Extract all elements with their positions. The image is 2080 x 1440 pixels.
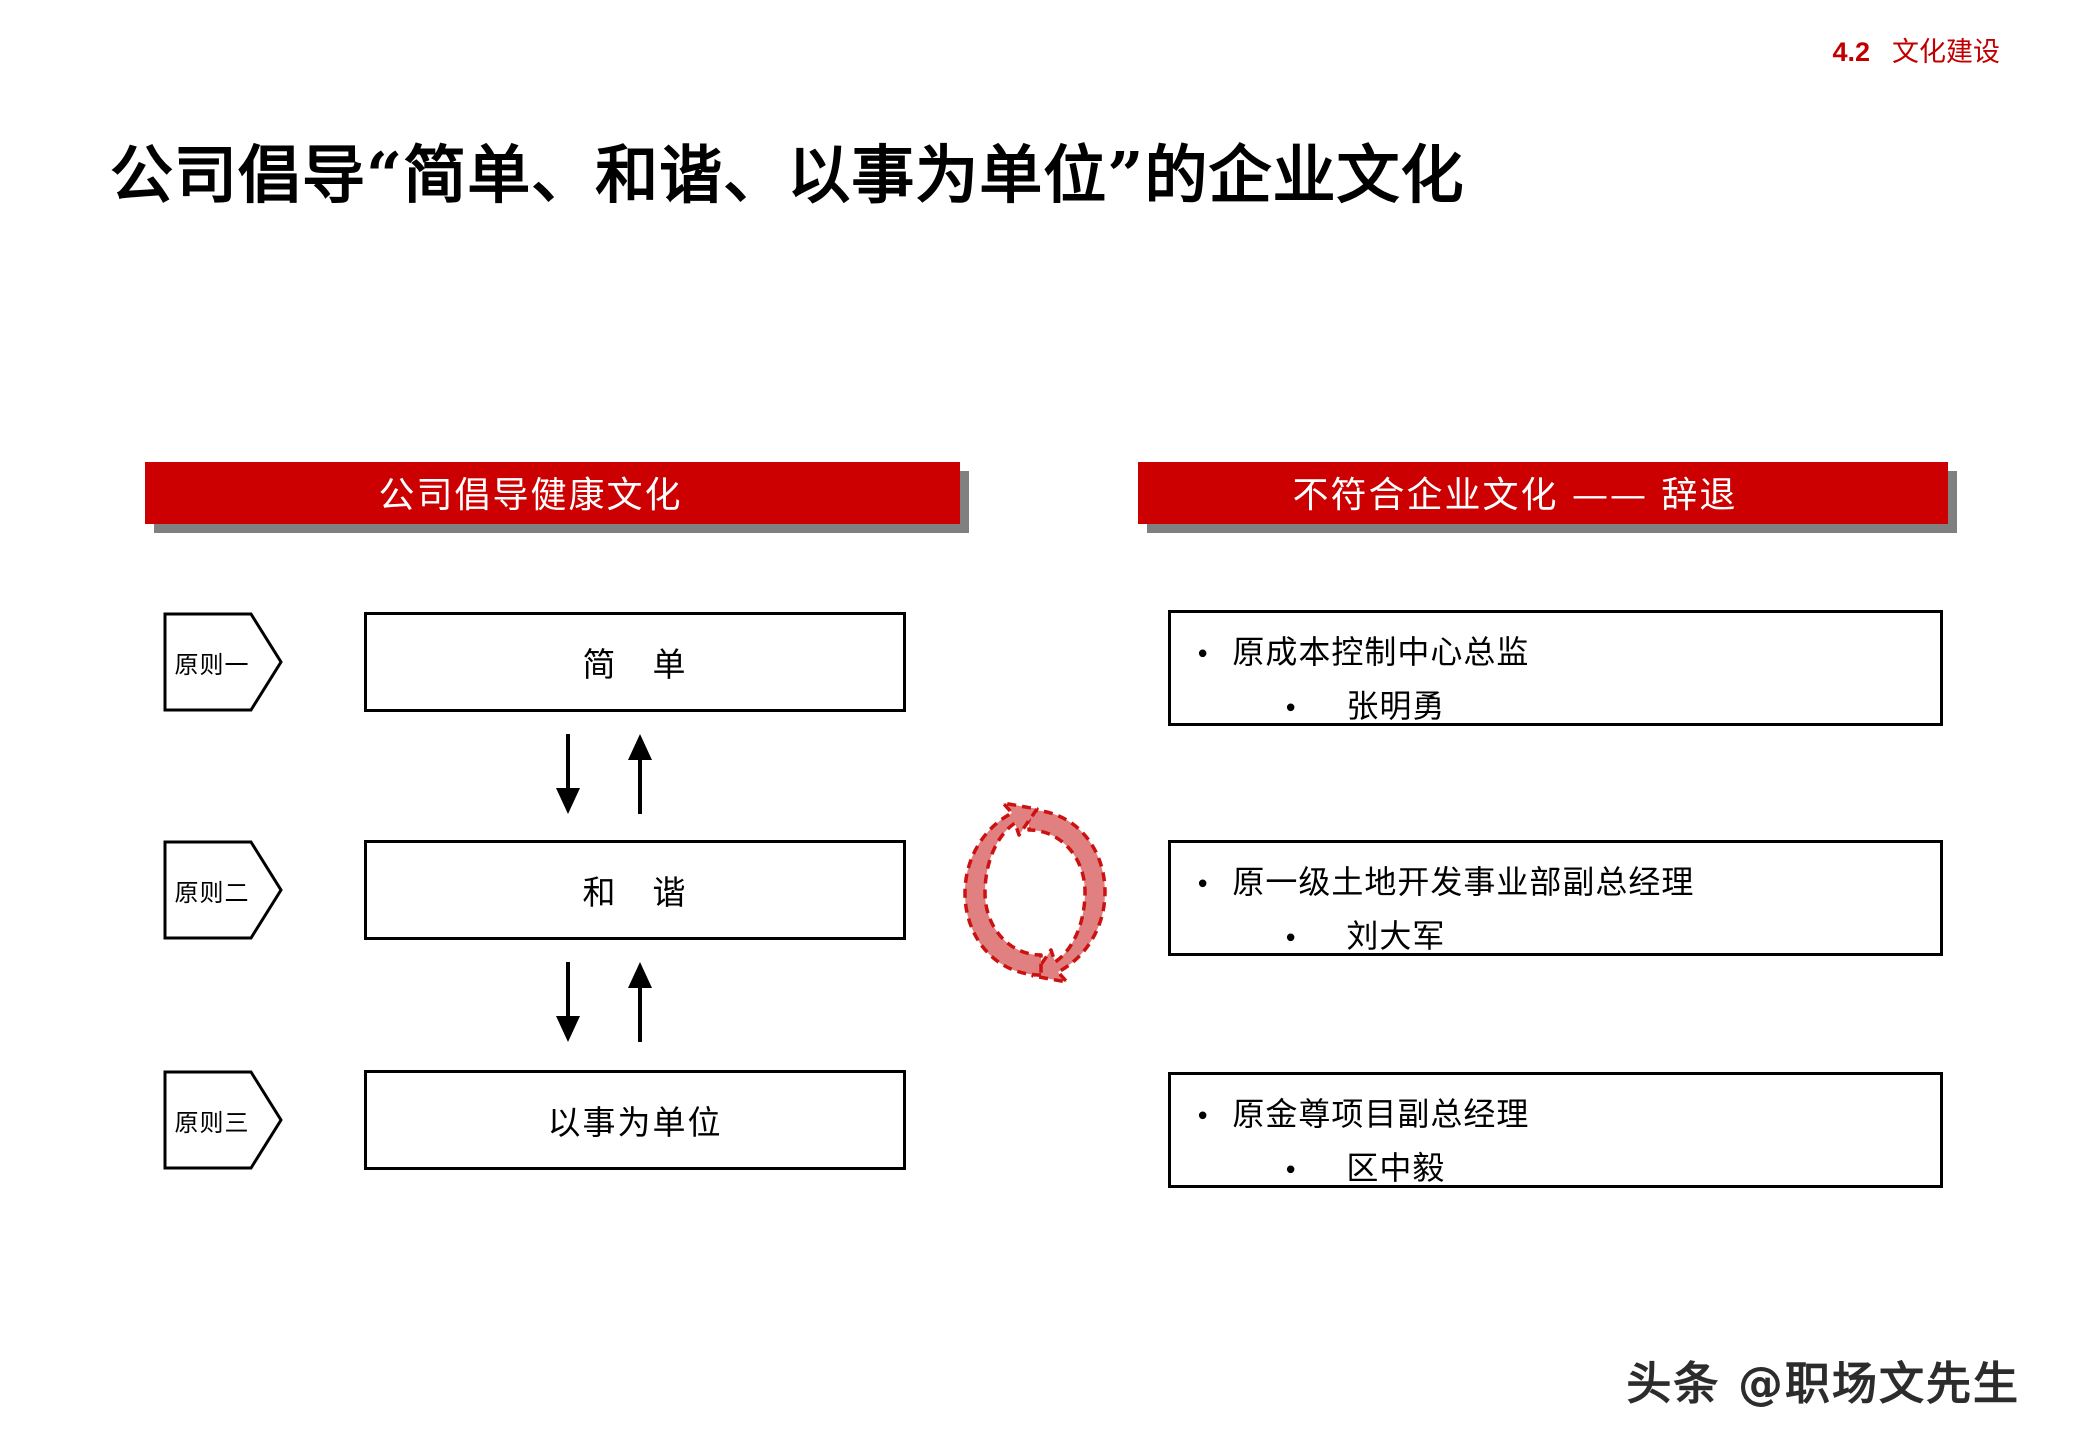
- principle-value-label: 以事为单位: [548, 1096, 723, 1144]
- dismissal-box: • 原金尊项目副总经理 • 区中毅: [1168, 1072, 1943, 1188]
- dismissal-role-line: • 原金尊项目副总经理: [1171, 1089, 1940, 1135]
- dismissal-role-label: 原成本控制中心总监: [1232, 627, 1529, 673]
- down-arrow-icon: [556, 962, 580, 1042]
- watermark: 头条 @职场文先生: [1626, 1347, 2020, 1412]
- dismissal-name-line: • 张明勇: [1171, 681, 1940, 727]
- dismissal-person-name: 区中毅: [1346, 1143, 1445, 1189]
- dismissal-role-label: 原金尊项目副总经理: [1232, 1089, 1529, 1135]
- arrow-pair-between-2-3: [530, 958, 690, 1046]
- principle-row: 原则一 简 单: [163, 612, 908, 712]
- page-title: 公司倡导“简单、和谐、以事为单位”的企业文化: [110, 125, 1464, 216]
- dismissal-role-label: 原一级土地开发事业部副总经理: [1232, 857, 1694, 903]
- dismissal-role-line: • 原成本控制中心总监: [1171, 627, 1940, 673]
- header-section-number: 4.2: [1832, 37, 1870, 68]
- dismissal-box: • 原一级土地开发事业部副总经理 • 刘大军: [1168, 840, 1943, 956]
- header-section-tag: 4.2 文化建设: [1832, 30, 2000, 69]
- up-arrow-icon: [628, 734, 652, 814]
- banner-dismissal: 不符合企业文化 —— 辞退: [1138, 462, 1948, 524]
- up-arrow-icon: [628, 962, 652, 1042]
- principle-row: 原则三 以事为单位: [163, 1070, 908, 1170]
- arrow-pair-between-1-2: [530, 730, 690, 818]
- dismissal-person-name: 刘大军: [1346, 911, 1445, 957]
- header-section-label: 文化建设: [1892, 30, 2000, 69]
- bullet-icon: •: [1195, 1104, 1210, 1130]
- principle-row: 原则二 和 谐: [163, 840, 908, 940]
- bullet-icon: •: [1283, 1158, 1298, 1184]
- down-arrow-icon: [556, 734, 580, 814]
- principle-box-harmony: 和 谐: [364, 840, 906, 940]
- banner-healthy-culture: 公司倡导健康文化: [145, 462, 960, 524]
- dismissal-name-line: • 刘大军: [1171, 911, 1940, 957]
- principle-box-simple: 简 单: [364, 612, 906, 712]
- dismissal-role-line: • 原一级土地开发事业部副总经理: [1171, 857, 1940, 903]
- banner-left-label: 公司倡导健康文化: [378, 466, 682, 518]
- dismissal-person-name: 张明勇: [1346, 681, 1445, 727]
- bullet-icon: •: [1195, 872, 1210, 898]
- principle-box-task-unit: 以事为单位: [364, 1070, 906, 1170]
- principle-value-label: 和 谐: [583, 866, 688, 914]
- bullet-icon: •: [1195, 642, 1210, 668]
- bullet-icon: •: [1283, 696, 1298, 722]
- dismissal-box: • 原成本控制中心总监 • 张明勇: [1168, 610, 1943, 726]
- principle-tag-label: 原则三: [163, 1070, 261, 1170]
- banner-right-label: 不符合企业文化 —— 辞退: [1293, 466, 1738, 518]
- principle-tag-label: 原则一: [163, 612, 261, 712]
- cycle-arrows-icon: [955, 800, 1115, 985]
- principle-value-label: 简 单: [583, 638, 688, 686]
- bullet-icon: •: [1283, 926, 1298, 952]
- principle-tag-label: 原则二: [163, 840, 261, 940]
- dismissal-name-line: • 区中毅: [1171, 1143, 1940, 1189]
